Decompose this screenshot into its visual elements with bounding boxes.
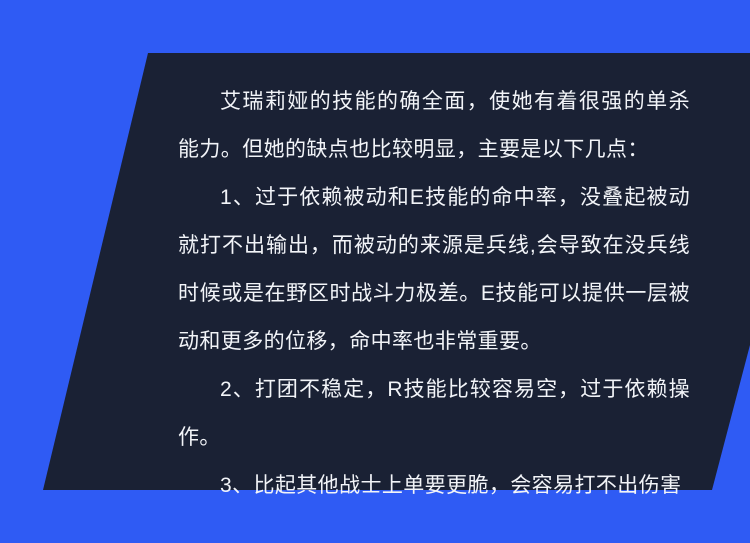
paragraph-intro: 艾瑞莉娅的技能的确全面，使她有着很强的单杀能力。但她的缺点也比较明显，主要是以下… xyxy=(178,78,690,174)
paragraph-point-2: 2、打团不稳定，R技能比较容易空，过于依赖操作。 xyxy=(178,366,690,462)
article-text-block: 艾瑞莉娅的技能的确全面，使她有着很强的单杀能力。但她的缺点也比较明显，主要是以下… xyxy=(178,78,690,510)
paragraph-point-3: 3、比起其他战士上单要更脆，会容易打不出伤害 xyxy=(178,462,690,510)
paragraph-point-1: 1、过于依赖被动和E技能的命中率，没叠起被动就打不出输出，而被动的来源是兵线,会… xyxy=(178,174,690,366)
image-canvas: 艾瑞莉娅的技能的确全面，使她有着很强的单杀能力。但她的缺点也比较明显，主要是以下… xyxy=(0,0,750,543)
